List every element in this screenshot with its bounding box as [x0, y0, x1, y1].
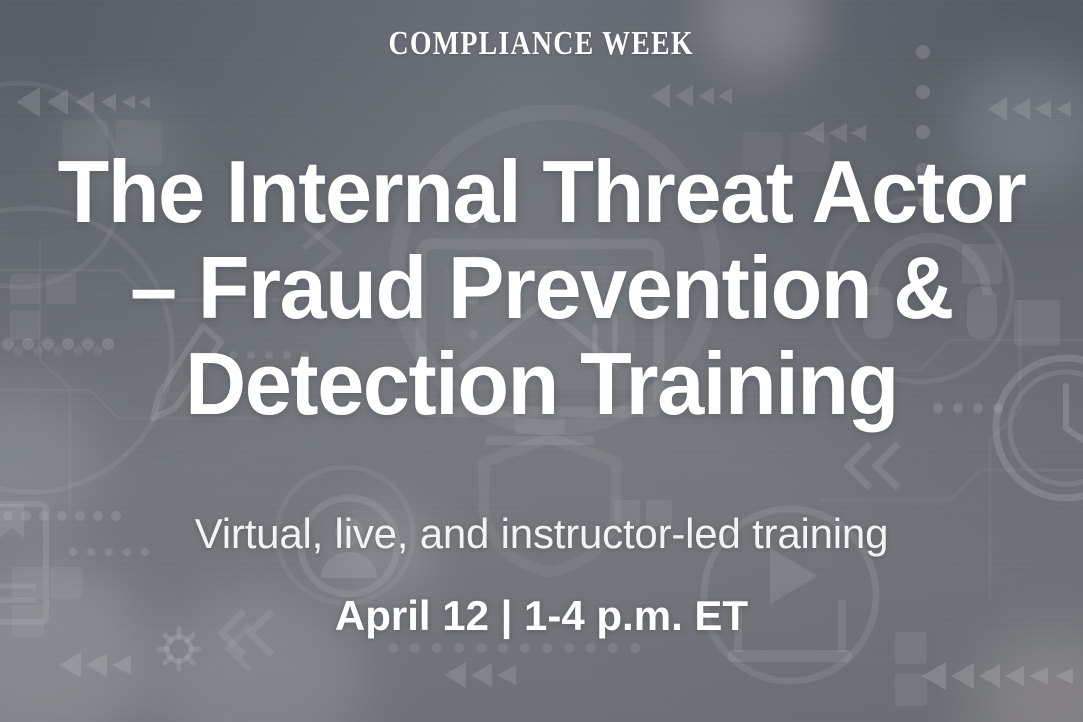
event-format-subtitle: Virtual, live, and instructor-led traini… [195, 513, 889, 555]
page-title-line-3: Detection Training [35, 336, 1048, 432]
page-title-line-1: The Internal Threat Actor [35, 144, 1048, 240]
webinar-promo-banner: COMPLIANCE WEEK The Internal Threat Acto… [0, 0, 1083, 722]
banner-content: COMPLIANCE WEEK The Internal Threat Acto… [0, 0, 1083, 722]
page-title-line-2: – Fraud Prevention & [35, 240, 1048, 336]
compliance-week-logo: COMPLIANCE WEEK [389, 27, 694, 61]
page-title: The Internal Threat Actor – Fraud Preven… [35, 144, 1048, 432]
event-datetime: April 12 | 1-4 p.m. ET [335, 595, 748, 637]
